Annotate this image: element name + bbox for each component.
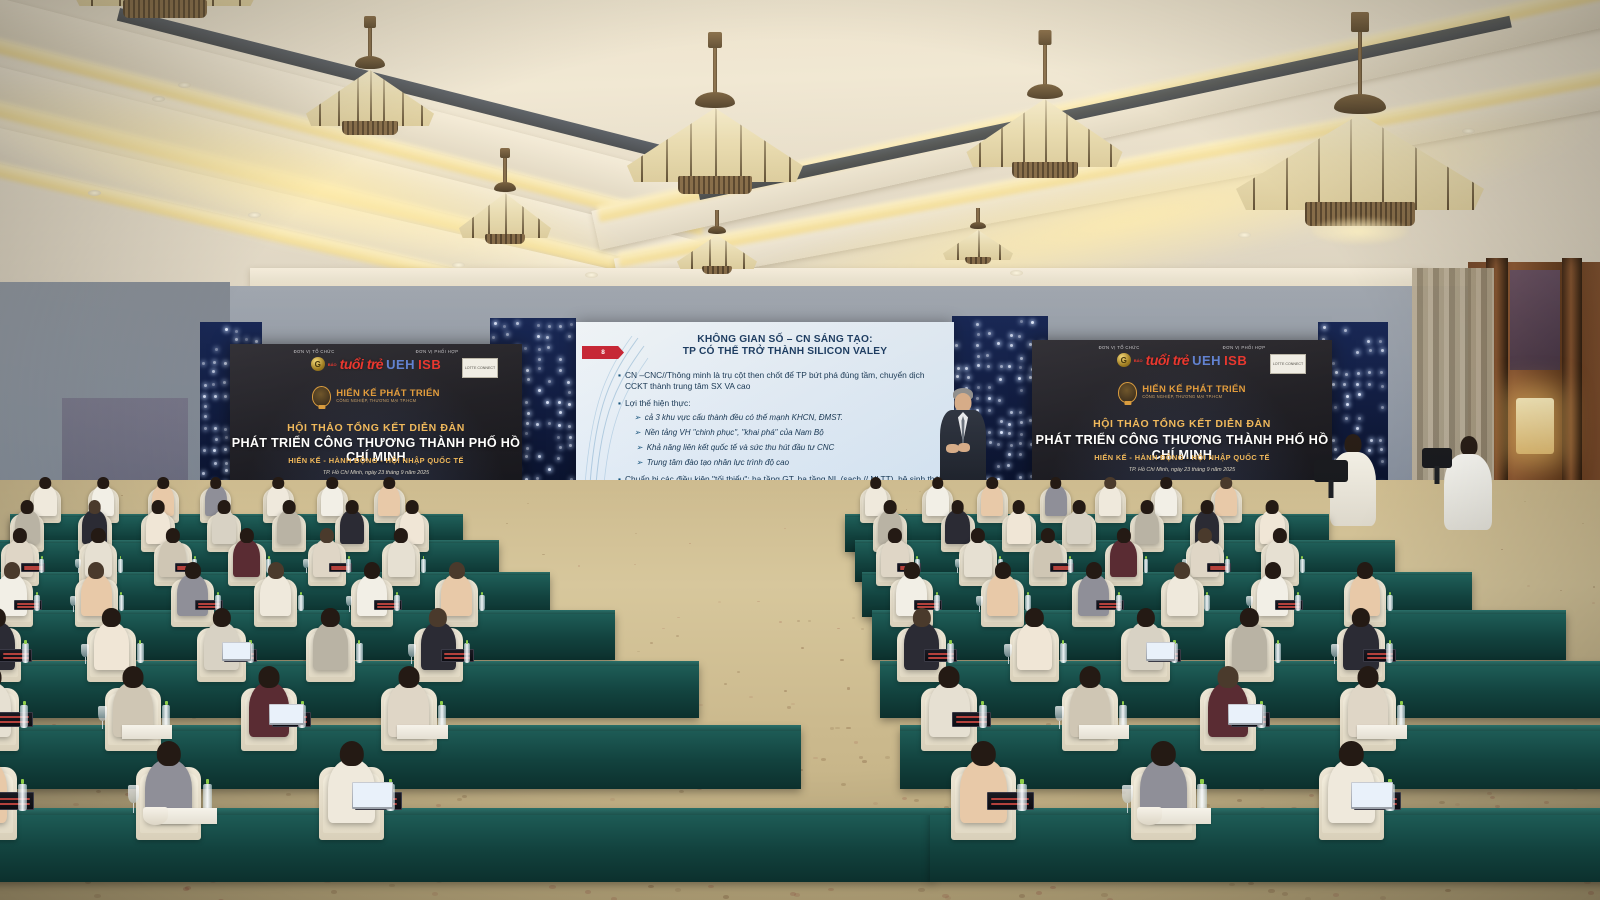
- audience-member: [0, 574, 27, 616]
- water-bottle: [979, 705, 987, 728]
- audience-member: [1078, 574, 1109, 616]
- audience-head: [1050, 477, 1062, 489]
- led-dot: [569, 436, 572, 439]
- audience-head: [1352, 608, 1370, 627]
- led-dot: [567, 381, 570, 384]
- led-dot: [547, 346, 550, 349]
- led-dot: [1343, 383, 1346, 386]
- tuoitre-prefix: BÁO: [328, 362, 337, 367]
- led-dot: [548, 422, 551, 425]
- audience-head: [883, 500, 896, 513]
- led-dot: [1346, 395, 1349, 398]
- led-dot: [225, 436, 228, 439]
- led-dot: [516, 322, 519, 325]
- audience-member: [929, 682, 969, 737]
- audience-head: [1137, 608, 1155, 627]
- led-dot: [1020, 357, 1023, 360]
- slide-title-line-1: KHÔNG GIAN SỐ – CN SÁNG TẠO:: [626, 334, 944, 346]
- water-bottle: [39, 559, 44, 573]
- chandelier-bowl: [494, 182, 516, 192]
- led-dot: [1019, 366, 1022, 369]
- water-bottle: [1225, 559, 1230, 573]
- audience-member: [1017, 622, 1052, 670]
- downlight: [152, 96, 165, 102]
- chandelier-shade: [627, 108, 803, 182]
- laptop-screen: [223, 643, 250, 658]
- led-dot: [538, 348, 541, 351]
- laptop: [1146, 642, 1175, 660]
- chandelier: [455, 152, 555, 272]
- led-dot: [546, 401, 549, 404]
- led-dot: [986, 354, 989, 357]
- led-dot: [224, 428, 227, 431]
- audience-member: [340, 510, 364, 544]
- audience-member: [94, 622, 129, 670]
- laptop-screen: [270, 705, 303, 724]
- audience-member: [277, 510, 301, 544]
- led-dot: [1346, 403, 1349, 406]
- videographer-right: [1434, 432, 1504, 542]
- led-dot: [494, 322, 497, 325]
- subbullet-marker: ➢: [634, 413, 641, 423]
- audience-member: [1343, 622, 1378, 670]
- led-dot: [224, 362, 227, 365]
- audience-head: [1273, 528, 1287, 543]
- led-dot: [1020, 433, 1023, 436]
- audience-head: [259, 666, 280, 688]
- chandelier-crown: [965, 257, 991, 264]
- led-dot: [1000, 431, 1003, 434]
- audience-head: [394, 528, 408, 543]
- chandelier-crown: [678, 176, 752, 194]
- led-dot: [537, 324, 540, 327]
- bullet-text: CN –CNC//Thông minh là trụ cột then chốt…: [625, 370, 946, 392]
- ueh-logo: UEH: [386, 357, 415, 372]
- audience-member: [388, 539, 415, 577]
- audience-head: [1073, 500, 1086, 513]
- subbullet-marker: ➢: [636, 458, 643, 468]
- audience-head: [152, 500, 165, 513]
- led-dot: [999, 378, 1002, 381]
- bullet-marker: ▪: [618, 398, 621, 409]
- led-dot: [537, 335, 540, 338]
- led-dot: [559, 358, 562, 361]
- audience-head: [210, 477, 222, 489]
- led-dot: [204, 384, 207, 387]
- led-dot: [558, 424, 561, 427]
- audience-member: [1257, 574, 1288, 616]
- led-dot: [225, 328, 228, 331]
- led-dot: [215, 348, 218, 351]
- water-bottle: [1068, 559, 1073, 573]
- audience-head: [240, 528, 254, 543]
- audience-head: [1151, 741, 1175, 767]
- banner-title-3: HIẾN KẾ - HÀNH ĐỘNG - HỘI NHẬP QUỐC TẾ: [1094, 453, 1270, 462]
- forum-logo-row: HIẾN KẾ PHÁT TRIỂN CÔNG NGHIỆP, THƯƠNG M…: [230, 386, 522, 407]
- led-dot: [977, 333, 980, 336]
- audience-head: [1357, 666, 1378, 688]
- audience-member: [321, 485, 343, 516]
- audience-head: [339, 741, 363, 767]
- led-dot: [1344, 329, 1347, 332]
- led-dot: [987, 365, 990, 368]
- audience-head: [987, 477, 999, 489]
- slide-bullet-1: ▪ CN –CNC//Thông minh là trụ cột then ch…: [618, 370, 946, 392]
- water-bottle: [479, 595, 485, 611]
- chandelier: [620, 38, 810, 208]
- led-dot: [1381, 406, 1384, 409]
- audience-member: [212, 510, 236, 544]
- led-dot: [506, 333, 509, 336]
- audience-head: [429, 608, 447, 627]
- led-dot: [1019, 411, 1022, 414]
- water-bottle: [119, 595, 125, 611]
- led-dot: [1356, 351, 1359, 354]
- partner-caption: ĐƠN VỊ PHỐI HỢP: [416, 349, 459, 354]
- led-dot: [569, 444, 572, 447]
- led-dot: [1010, 444, 1013, 447]
- led-dot: [1010, 411, 1013, 414]
- led-dot: [525, 432, 528, 435]
- led-dot: [1008, 432, 1011, 435]
- audience-head: [321, 608, 339, 627]
- audience-head: [951, 500, 964, 513]
- audience-head: [1079, 666, 1100, 688]
- audience-head: [364, 562, 380, 579]
- led-dot: [568, 403, 571, 406]
- led-dot: [1018, 377, 1021, 380]
- led-dot: [1020, 320, 1023, 323]
- led-dot: [559, 411, 562, 414]
- chandelier-bowl: [1027, 84, 1063, 99]
- chandelier-crown: [123, 0, 207, 18]
- audience-head: [4, 562, 20, 579]
- led-dot: [559, 446, 562, 449]
- led-dot: [559, 369, 562, 372]
- audience-head: [98, 477, 110, 489]
- wine-glass: [1246, 596, 1253, 607]
- led-dot: [1334, 406, 1337, 409]
- paper-handout: [122, 725, 173, 739]
- partner-logo-box: LOTTE CONNECT: [1270, 354, 1306, 374]
- audience-head: [1012, 500, 1025, 513]
- banner-title-1: HỘI THẢO TỔNG KẾT DIỄN ĐÀN: [1093, 418, 1271, 430]
- water-bottle: [1144, 559, 1149, 573]
- audience-head: [1174, 562, 1190, 579]
- led-dot: [976, 323, 979, 326]
- led-dot: [525, 401, 528, 404]
- led-dot: [212, 383, 215, 386]
- chandelier: [300, 20, 440, 160]
- chandelier-crown: [702, 266, 732, 274]
- led-dot: [1332, 362, 1335, 365]
- isb-logo: ISB: [1224, 353, 1247, 368]
- audience-head: [383, 477, 395, 489]
- chandelier-shade: [677, 235, 757, 269]
- led-dot: [1345, 417, 1348, 420]
- water-bottle: [1387, 595, 1393, 611]
- led-dot: [1380, 371, 1383, 374]
- audience-head: [888, 528, 902, 543]
- water-bottle: [421, 559, 426, 573]
- audience-member: [1007, 510, 1031, 544]
- water-bottle: [1204, 595, 1210, 611]
- led-dot: [1368, 383, 1371, 386]
- audience-head: [40, 477, 52, 489]
- slide-subbullet-2: ➢ Nền tảng VH "chinh phục", "khai phá" c…: [634, 428, 948, 438]
- audience-head: [345, 500, 358, 513]
- wine-glass: [1004, 644, 1012, 657]
- chandelier-shade: [459, 193, 551, 238]
- downlight: [178, 82, 191, 88]
- led-dot: [557, 457, 560, 460]
- forum-logo-sub: CÔNG NGHIỆP, THƯƠNG MẠI TP.HCM: [336, 399, 440, 403]
- water-bottle: [934, 595, 940, 611]
- paper-handout: [1079, 725, 1130, 739]
- wine-glass: [81, 644, 89, 657]
- isb-logo: ISB: [418, 357, 441, 372]
- audience-member: [177, 574, 208, 616]
- audience-member: [233, 539, 260, 577]
- led-dot: [524, 347, 527, 350]
- laptop-screen: [1229, 705, 1262, 724]
- led-dot: [997, 342, 1000, 345]
- banner-title-1: HỘI THẢO TỔNG KẾT DIỄN ĐÀN: [287, 422, 465, 434]
- led-dot: [213, 361, 216, 364]
- audience-head: [326, 477, 338, 489]
- led-dot: [224, 448, 227, 451]
- led-dot: [1323, 326, 1326, 329]
- led-dot: [1356, 383, 1359, 386]
- chandelier-bowl: [1334, 94, 1386, 114]
- water-bottle: [18, 784, 28, 812]
- led-dot: [235, 338, 238, 341]
- led-dot: [1020, 389, 1023, 392]
- forum-logo-sub: CÔNG NGHIỆP, THƯƠNG MẠI TP.HCM: [1142, 395, 1246, 399]
- audience-head: [904, 562, 920, 579]
- audience-member: [926, 485, 948, 516]
- led-dot: [525, 455, 528, 458]
- wine-glass: [1055, 706, 1064, 721]
- led-dot: [1368, 371, 1371, 374]
- audience-head: [1240, 608, 1258, 627]
- partner-caption: ĐƠN VỊ PHỐI HỢP: [1223, 345, 1266, 350]
- bullet-text: Lợi thế hiện thực:: [625, 398, 691, 409]
- chandelier: [70, 0, 260, 60]
- wine-glass: [128, 785, 139, 803]
- slide-title: KHÔNG GIAN SỐ – CN SÁNG TẠO: TP CÓ THỂ T…: [626, 334, 944, 359]
- led-dot: [1379, 340, 1382, 343]
- led-dot: [1369, 349, 1372, 352]
- audience-head: [971, 741, 995, 767]
- led-dot: [568, 335, 571, 338]
- led-dot: [548, 325, 551, 328]
- led-dot: [546, 336, 549, 339]
- led-dot: [245, 338, 248, 341]
- audience-member: [1067, 510, 1091, 544]
- chandelier: [962, 36, 1127, 196]
- laptop-screen: [353, 783, 392, 806]
- audience-member: [1099, 485, 1121, 516]
- led-dot: [1019, 442, 1022, 445]
- chandelier-bowl: [970, 222, 986, 229]
- laptop: [269, 704, 304, 726]
- audience-head: [213, 608, 231, 627]
- audience-head: [1141, 500, 1154, 513]
- laptop: [1351, 782, 1392, 808]
- water-bottle: [1295, 595, 1301, 611]
- audience-head: [1086, 562, 1102, 579]
- banner-organizer-caption-row: ĐƠN VỊ TỔ CHỨC ĐƠN VỊ PHỐI HỢP: [1032, 345, 1332, 350]
- audience-head: [157, 741, 181, 767]
- led-dot: [526, 447, 529, 450]
- conference-hall-scene: ĐƠN VỊ TỔ CHỨC ĐƠN VỊ PHỐI HỢP G BÁO tuổ…: [0, 0, 1600, 900]
- audience-member: [1045, 485, 1067, 516]
- tuoitre-logo: tuổi trẻ: [340, 356, 383, 372]
- led-dot: [559, 325, 562, 328]
- led-dot: [1010, 344, 1013, 347]
- led-dot: [225, 462, 228, 465]
- audience-head: [1339, 741, 1363, 767]
- slide-subbullet-4: ➢ Trung tâm đào tạo nhân lực trình độ ca…: [636, 458, 948, 468]
- chandelier-shade: [943, 230, 1013, 260]
- audience-member: [260, 574, 291, 616]
- organizer-caption: ĐƠN VỊ TỔ CHỨC: [1099, 345, 1140, 350]
- audience-head: [995, 562, 1011, 579]
- led-dot: [527, 378, 530, 381]
- audience-head: [398, 666, 419, 688]
- water-bottle: [118, 559, 123, 573]
- chandelier: [938, 208, 1018, 298]
- led-dot: [538, 455, 541, 458]
- chandelier-crown: [342, 121, 398, 135]
- led-dot: [568, 425, 571, 428]
- audience-head: [1041, 528, 1055, 543]
- emblem-logo: G: [1117, 353, 1131, 367]
- chandelier-shade: [306, 70, 434, 126]
- led-dot: [1019, 453, 1022, 456]
- led-dot: [557, 436, 560, 439]
- slide-subbullet-3: ➢ Khả năng liên kết quốc tế và sức thu h…: [636, 443, 948, 453]
- water-bottle: [34, 595, 40, 611]
- laptop: [222, 642, 251, 660]
- led-dot: [204, 405, 207, 408]
- banquet-table: [930, 810, 1600, 882]
- led-dot: [255, 340, 258, 343]
- water-bottle: [1300, 559, 1305, 573]
- speaker-hand: [958, 443, 970, 452]
- water-bottle: [947, 643, 954, 662]
- audience-head: [1160, 477, 1172, 489]
- audience-head: [913, 608, 931, 627]
- led-dot: [538, 367, 541, 370]
- audience-head: [449, 562, 465, 579]
- audience-head: [1117, 528, 1131, 543]
- tuoitre-logo: tuổi trẻ: [1146, 352, 1189, 368]
- wine-glass: [1331, 644, 1339, 657]
- water-bottle: [137, 643, 144, 662]
- water-bottle: [464, 643, 471, 662]
- table-top: [862, 572, 1472, 576]
- led-dot: [967, 376, 970, 379]
- chandelier-crown: [485, 234, 525, 244]
- audience-member: [1135, 510, 1159, 544]
- ueh-logo: UEH: [1192, 353, 1221, 368]
- led-dot: [1031, 321, 1034, 324]
- water-bottle: [346, 559, 351, 573]
- led-dot: [223, 381, 226, 384]
- audience-member: [34, 485, 56, 516]
- led-dot: [570, 323, 573, 326]
- audience-head: [1201, 500, 1214, 513]
- video-camera-rig: [1422, 448, 1452, 468]
- audience-head: [1266, 500, 1279, 513]
- audience-member: [981, 485, 1003, 516]
- led-dot: [503, 325, 506, 328]
- audience-member: [357, 574, 388, 616]
- led-dot: [203, 449, 206, 452]
- led-dot: [965, 367, 968, 370]
- lightbulb-skyline-icon: [312, 386, 331, 407]
- led-dot: [1381, 385, 1384, 388]
- subbullet-marker: ➢: [636, 443, 643, 453]
- audience-head: [1198, 528, 1212, 543]
- audience-head: [320, 528, 334, 543]
- operator-head: [1345, 434, 1362, 454]
- audience-head: [88, 562, 104, 579]
- led-dot: [1345, 373, 1348, 376]
- led-dot: [558, 401, 561, 404]
- wall-sconce: [1516, 398, 1554, 454]
- led-dot: [1000, 365, 1003, 368]
- chandelier-bowl: [355, 56, 385, 69]
- led-dot: [1008, 453, 1011, 456]
- banquet-table: [872, 612, 1566, 660]
- coffee-cup: [1137, 807, 1162, 825]
- led-dot: [1332, 383, 1335, 386]
- banner-title-3: HIẾN KẾ - HÀNH ĐỘNG - HỘI NHẬP QUỐC TẾ: [288, 456, 464, 465]
- audience-head: [1357, 562, 1373, 579]
- led-dot: [1000, 420, 1003, 423]
- led-dot: [955, 344, 958, 347]
- led-dot: [998, 399, 1001, 402]
- audience-member: [421, 622, 456, 670]
- audience-member: [904, 622, 939, 670]
- tuoitre-prefix: BÁO: [1134, 358, 1143, 363]
- led-dot: [1358, 393, 1361, 396]
- led-dot: [568, 391, 571, 394]
- emblem-logo: G: [311, 357, 325, 371]
- audience-member: [441, 574, 472, 616]
- banner-organizer-caption-row: ĐƠN VỊ TỔ CHỨC ĐƠN VỊ PHỐI HỢP: [230, 349, 522, 354]
- forum-logo-row: HIẾN KẾ PHÁT TRIỂN CÔNG NGHIỆP, THƯƠNG M…: [1032, 382, 1332, 403]
- audience-member: [1110, 539, 1137, 577]
- water-bottle: [298, 595, 304, 611]
- led-dot: [1381, 349, 1384, 352]
- video-camera-rig: [1314, 460, 1348, 482]
- audience-head: [102, 608, 120, 627]
- audience-head: [91, 528, 105, 543]
- audience-head: [1025, 608, 1043, 627]
- subbullet-text: Nền tảng VH "chinh phục", "khai phá" của…: [645, 428, 824, 438]
- laptop-screen: [1147, 643, 1174, 658]
- wall-panel-decor: [1510, 270, 1560, 370]
- water-bottle: [394, 595, 400, 611]
- audience-member: [1232, 622, 1267, 670]
- laptop: [352, 782, 393, 808]
- slide-bullet-2: ▪ Lợi thế hiện thực:: [618, 398, 946, 409]
- led-dot: [538, 358, 541, 361]
